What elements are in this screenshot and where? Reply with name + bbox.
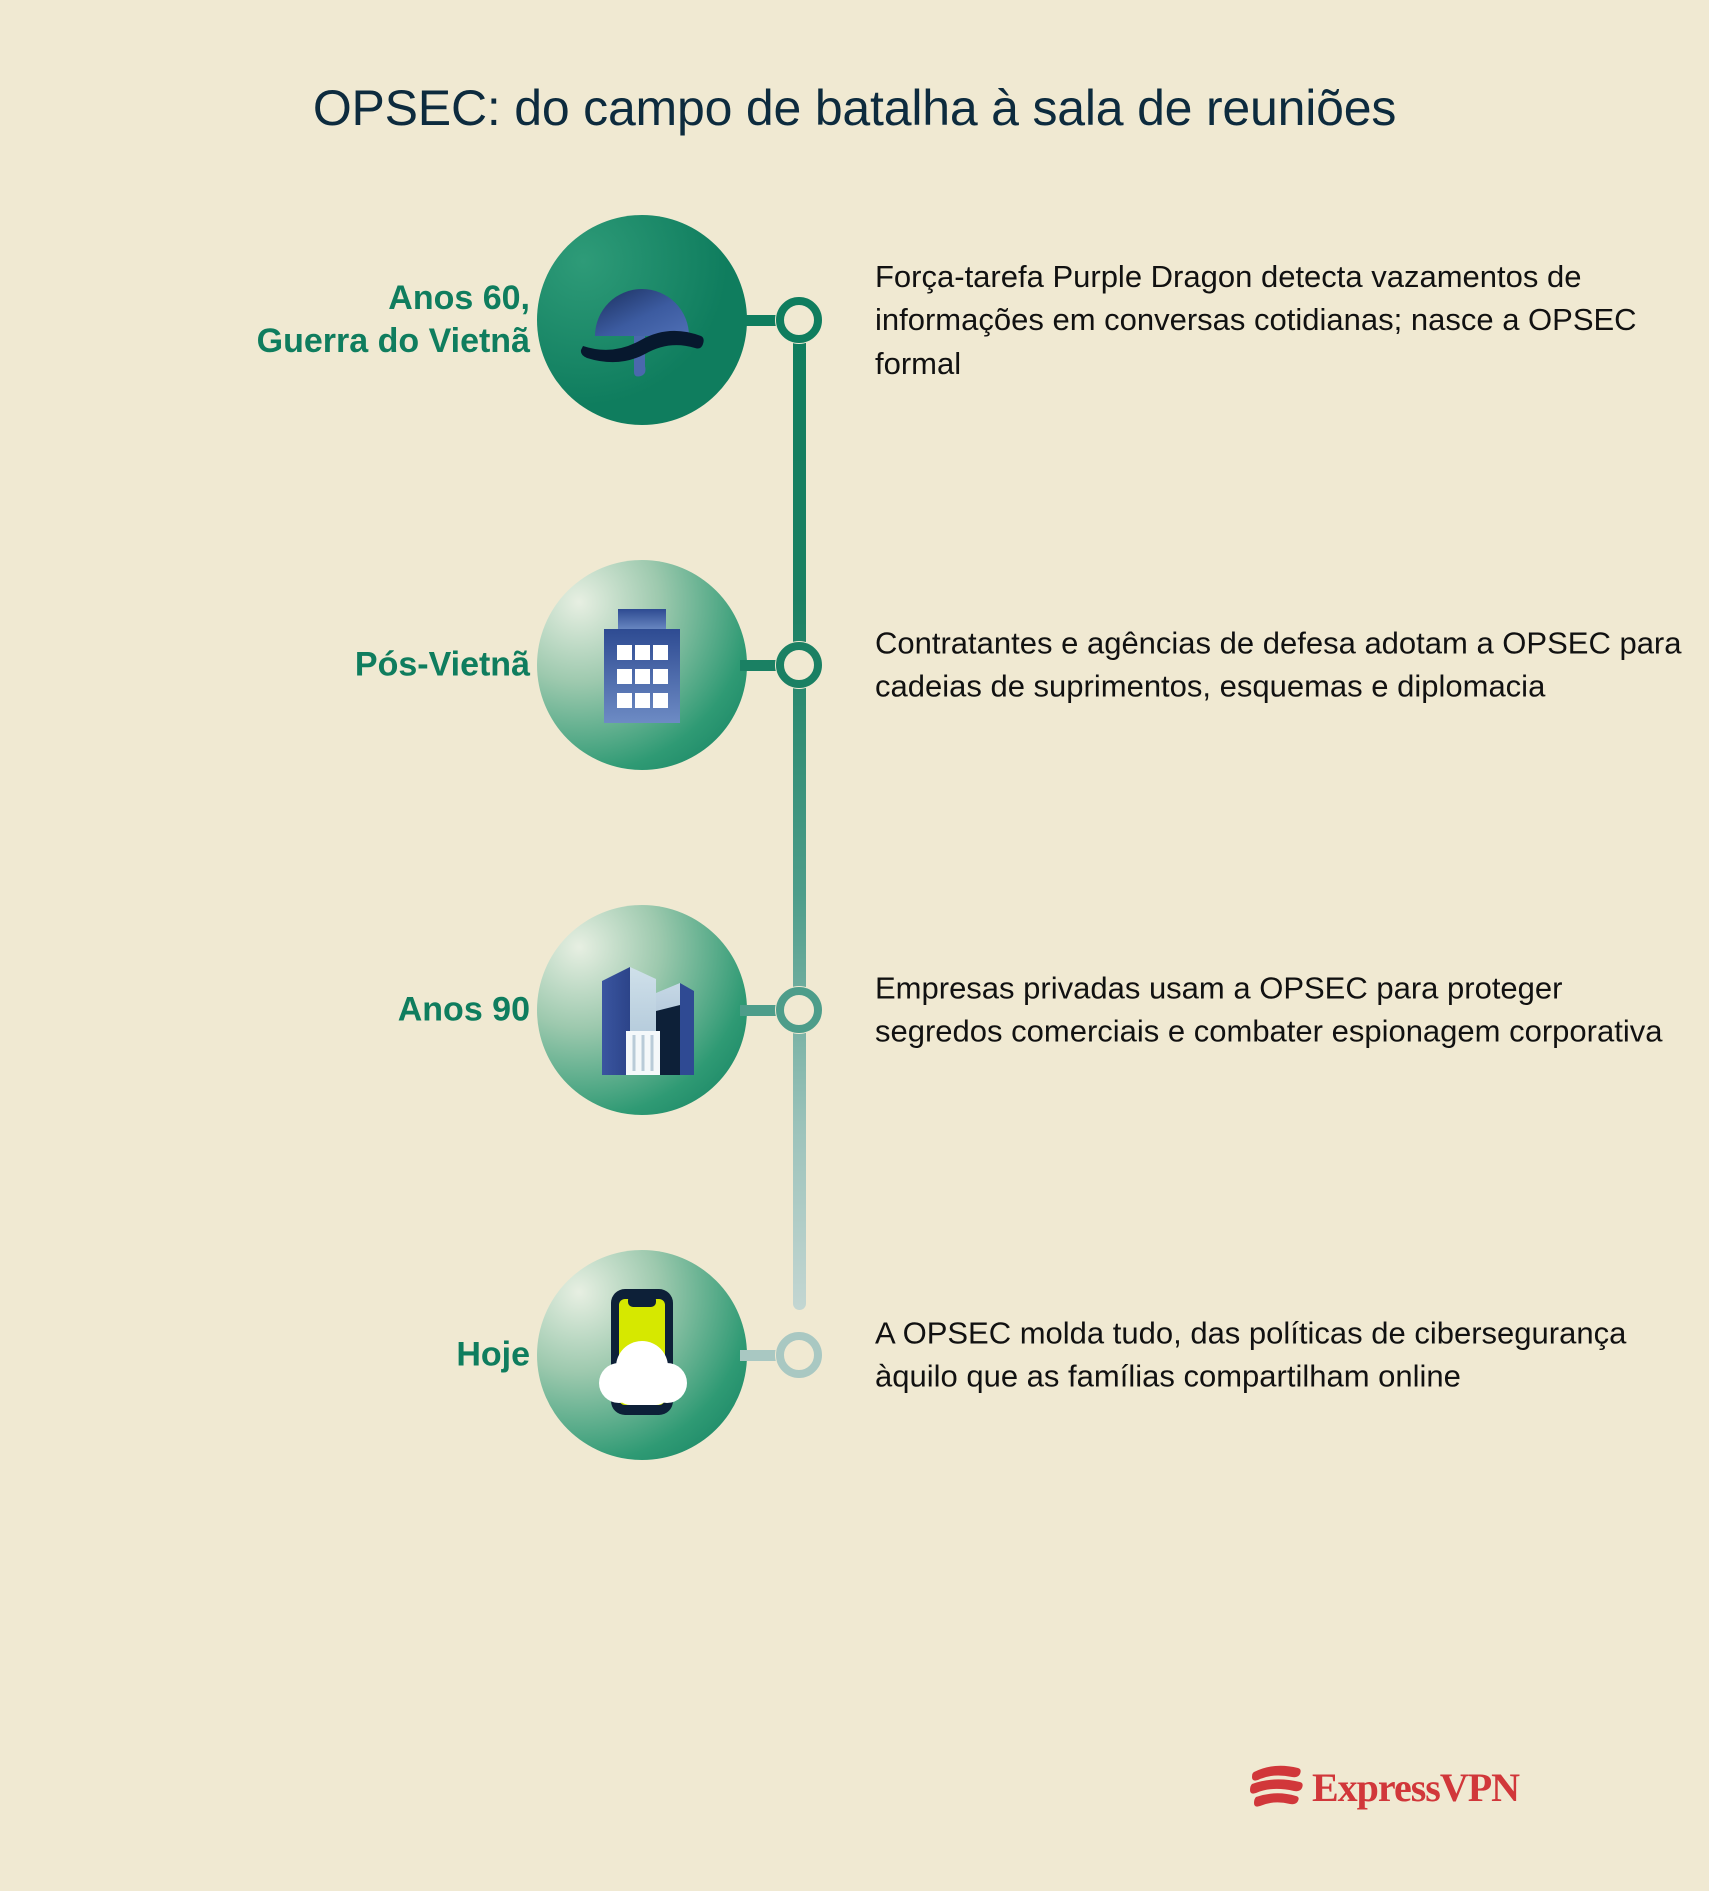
timeline-item-text: A OPSEC molda tudo, das políticas de cib… [875,1312,1685,1399]
timeline-item-icon-circle [537,560,747,770]
timeline-row: Anos 90 [0,905,1709,1115]
timeline-node [775,641,823,689]
timeline-item-text: Força-tarefa Purple Dragon detecta vazam… [875,255,1685,385]
timeline-item-label: Pós-Vietnã [60,644,530,687]
timeline-item-label: Anos 60, Guerra do Vietnã [60,277,530,363]
expressvpn-wordmark: ExpressVPN [1312,1764,1519,1811]
timeline-item-text: Empresas privadas usam a OPSEC para prot… [875,967,1685,1054]
timeline-node [775,1331,823,1379]
expressvpn-logo: ExpressVPN [1248,1760,1519,1815]
smartphone-cloud-icon [587,1285,697,1425]
infographic-page: OPSEC: do campo de batalha à sala de reu… [0,0,1709,1891]
timeline-row: Anos 60, Guerra do Vietnã [0,215,1709,425]
timeline-row: Hoje [0,1250,1709,1460]
timeline-item-icon-circle [537,905,747,1115]
timeline-row: Pós-Vietnã [0,560,1709,770]
timeline-item-label: Hoje [60,1334,530,1377]
timeline-node [775,986,823,1034]
expressvpn-swoosh-icon [1248,1760,1304,1815]
timeline-item-label: Anos 90 [60,989,530,1032]
office-building-icon [592,605,692,725]
timeline-item-text: Contratantes e agências de defesa adotam… [875,622,1685,709]
military-helmet-icon [577,260,707,380]
skyscrapers-icon [582,945,702,1075]
timeline: Anos 60, Guerra do Vietnã [0,0,1709,1891]
timeline-item-icon-circle [537,1250,747,1460]
timeline-spine [793,320,806,1310]
timeline-node [775,296,823,344]
timeline-item-icon-circle [537,215,747,425]
